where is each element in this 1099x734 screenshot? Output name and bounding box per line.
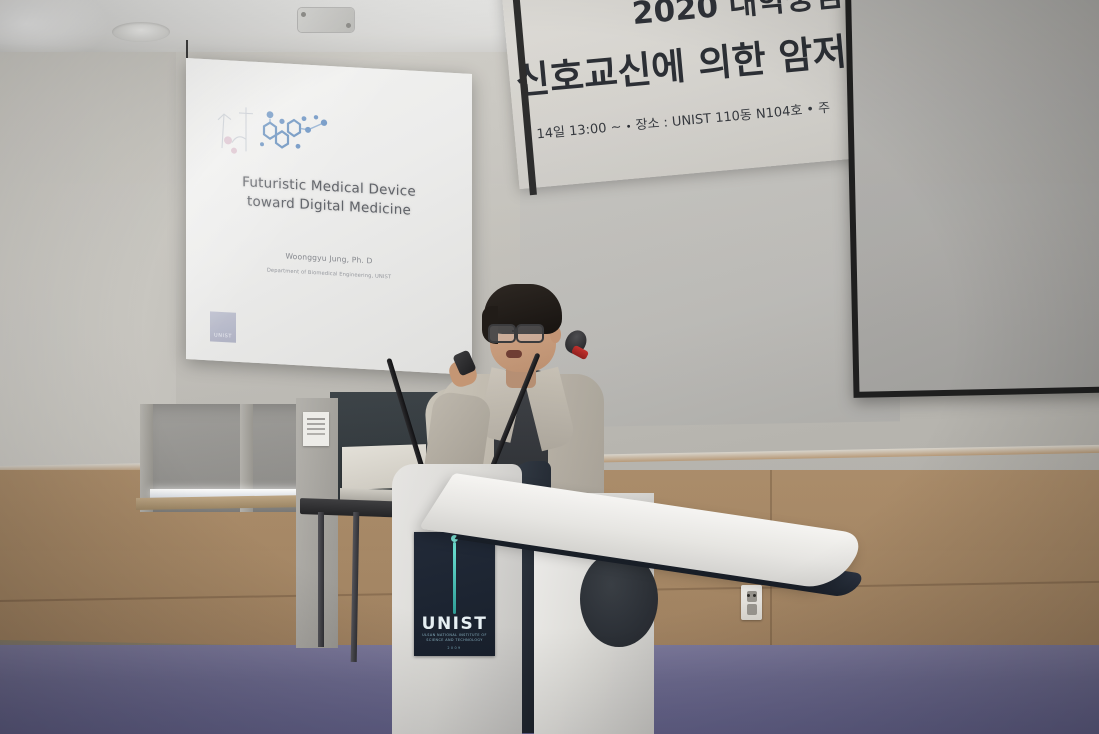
podium-placard-year: 2009 <box>414 646 495 650</box>
right-screen-surface <box>851 0 1099 392</box>
slide-unist-logo: UNIST <box>210 311 236 342</box>
wall-outlet-icon[interactable] <box>741 585 762 620</box>
presenter-glasses-bridge <box>512 330 518 332</box>
banner-time: 14일 13:00 ~ <box>536 120 622 143</box>
lecture-hall-photo: 2020 대학중점 신호교신에 의한 암저 14일 13:00 ~ • 장소 :… <box>0 0 1099 734</box>
podium-placard-wordmark: UNIST <box>414 614 495 634</box>
outlet-slot-2 <box>753 594 756 597</box>
banner-trailing: • 주 <box>806 101 831 118</box>
podium-unist-placard: UNIST ULSAN NATIONAL INSTITUTE OF SCIENC… <box>414 532 495 656</box>
presenter-mouth <box>506 350 522 358</box>
pillar-paper-sign <box>303 412 329 446</box>
banner-bullet-icon: • <box>625 122 632 133</box>
podium-placard-subtitle: ULSAN NATIONAL INSTITUTE OF SCIENCE AND … <box>414 633 495 643</box>
outlet-slot-1 <box>747 594 750 597</box>
outlet-slot-4 <box>753 607 756 610</box>
slide-title: Futuristic Medical Device toward Digital… <box>196 171 462 224</box>
presenter-glasses-right-lens <box>516 324 544 343</box>
slide-molecule-graphic-icon <box>212 97 342 166</box>
table-leg-left <box>318 512 324 647</box>
ceiling-downlight-icon <box>112 22 170 42</box>
banner-line-2: 신호교신에 의한 암저 <box>513 21 849 105</box>
ceiling-light-glow <box>0 0 110 52</box>
outlet-slot-3 <box>747 607 750 610</box>
banner-detail-line: 14일 13:00 ~ • 장소 : UNIST 110동 N104호 • 주 <box>536 97 831 143</box>
banner-place: 장소 : UNIST 110동 N104호 <box>635 103 803 133</box>
ceiling-vent-icon <box>298 8 354 32</box>
right-display-screen <box>845 0 1099 398</box>
slide-logo-text: UNIST <box>214 333 232 340</box>
presenter-glasses-left-lens <box>488 324 516 343</box>
podium-placard-i-stroke-icon <box>453 542 456 614</box>
lecture-podium: UNIST UNIST ULSAN NATIONAL INSTITUTE OF … <box>384 455 684 734</box>
